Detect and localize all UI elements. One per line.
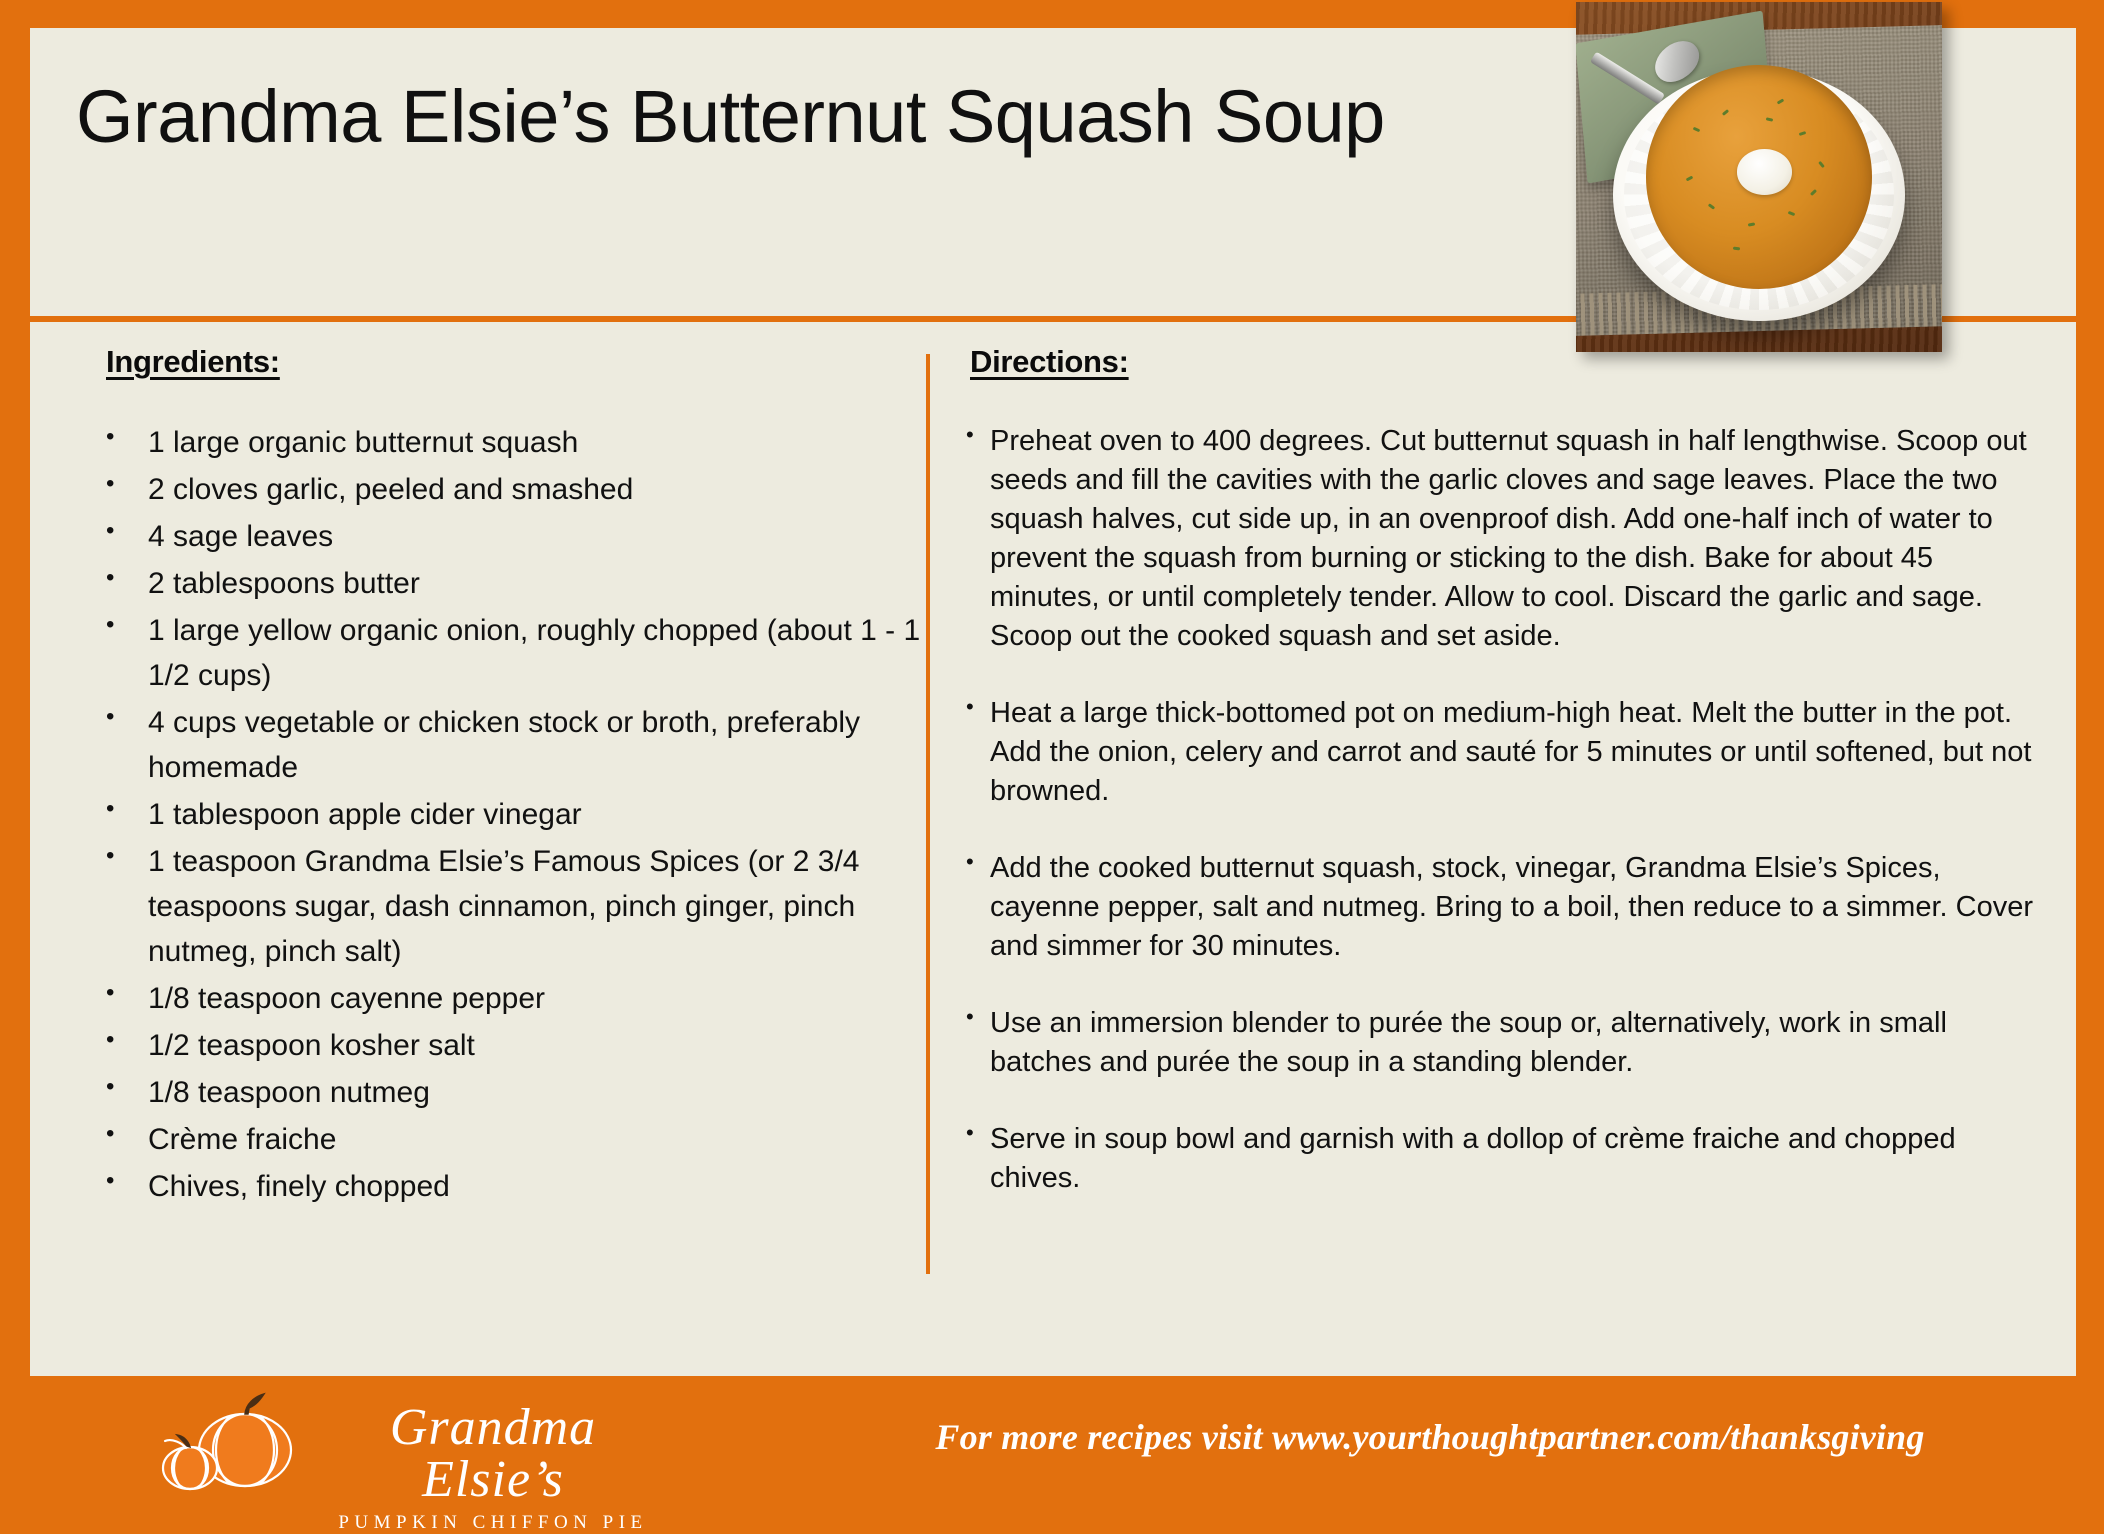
page-title: Grandma Elsie’s Butternut Squash Soup xyxy=(76,72,1576,162)
column-divider xyxy=(926,354,930,1274)
brand-tagline: PUMPKIN CHIFFON PIE xyxy=(318,1512,668,1534)
direction-step: Serve in soup bowl and garnish with a do… xyxy=(960,1120,2035,1198)
soup-photo xyxy=(1576,2,1942,352)
pumpkin-icon xyxy=(150,1388,310,1498)
ingredient-item: 1/8 teaspoon nutmeg xyxy=(76,1070,936,1115)
ingredient-item: 1 tablespoon apple cider vinegar xyxy=(76,792,936,837)
brand-logo: Grandma Elsie’s PUMPKIN CHIFFON PIE xyxy=(150,1388,670,1498)
ingredient-item: 2 tablespoons butter xyxy=(76,561,936,606)
brand-name: Grandma Elsie’s xyxy=(318,1402,668,1506)
ingredients-section: Ingredients: 1 large organic butternut s… xyxy=(76,322,936,1211)
soup-photo-image xyxy=(1576,2,1942,352)
ingredient-item: 2 cloves garlic, peeled and smashed xyxy=(76,467,936,512)
card-body: Ingredients: 1 large organic butternut s… xyxy=(30,322,2076,1376)
ingredient-item: 1/8 teaspoon cayenne pepper xyxy=(76,976,936,1021)
ingredient-item: Crème fraiche xyxy=(76,1117,936,1162)
direction-step: Add the cooked butternut squash, stock, … xyxy=(960,849,2035,966)
directions-list: Preheat oven to 400 degrees. Cut buttern… xyxy=(960,422,2035,1198)
direction-step: Heat a large thick-bottomed pot on mediu… xyxy=(960,694,2035,811)
ingredient-item: 4 cups vegetable or chicken stock or bro… xyxy=(76,700,936,790)
ingredients-list: 1 large organic butternut squash2 cloves… xyxy=(76,420,936,1209)
direction-step: Use an immersion blender to purée the so… xyxy=(960,1004,2035,1082)
ingredients-heading: Ingredients: xyxy=(106,344,936,380)
footer-url-text: For more recipes visit www.yourthoughtpa… xyxy=(900,1416,1960,1458)
brand-logo-text: Grandma Elsie’s PUMPKIN CHIFFON PIE xyxy=(318,1402,668,1534)
ingredient-item: 4 sage leaves xyxy=(76,514,936,559)
chive-garnish xyxy=(1748,222,1755,226)
ingredient-item: 1 large organic butternut squash xyxy=(76,420,936,465)
card-footer: Grandma Elsie’s PUMPKIN CHIFFON PIE For … xyxy=(0,1376,2104,1504)
creme-fraiche-dollop xyxy=(1737,149,1792,195)
directions-section: Directions: Preheat oven to 400 degrees.… xyxy=(960,322,2035,1236)
direction-step: Preheat oven to 400 degrees. Cut buttern… xyxy=(960,422,2035,656)
ingredient-item: 1/2 teaspoon kosher salt xyxy=(76,1023,936,1068)
ingredient-item: Chives, finely chopped xyxy=(76,1164,936,1209)
ingredient-item: 1 teaspoon Grandma Elsie’s Famous Spices… xyxy=(76,839,936,974)
ingredient-item: 1 large yellow organic onion, roughly ch… xyxy=(76,608,936,698)
